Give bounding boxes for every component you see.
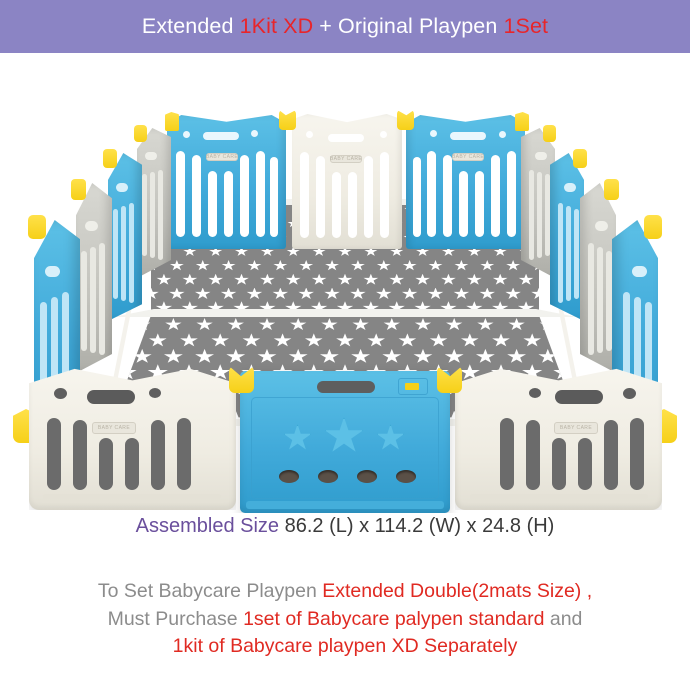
panel-hole: [85, 221, 98, 231]
mat-star: [226, 349, 246, 364]
gate-vent-hole: [318, 470, 338, 483]
panel-slat: [99, 438, 113, 490]
panel-hole: [535, 152, 547, 160]
mat-star: [505, 288, 521, 301]
panel-hole: [632, 266, 647, 277]
panel-slat: [630, 418, 644, 490]
note-1a: To Set Babycare Playpen: [98, 580, 322, 602]
playpen-photo: BABY CARE BABY CARE: [0, 53, 690, 513]
brand-logo-plate: BABY CARE: [206, 153, 238, 161]
panel-slat: [566, 206, 571, 301]
panel-slat: [151, 420, 165, 490]
mat-star: [428, 260, 442, 271]
mat-star: [402, 288, 418, 301]
mat-star: [427, 288, 443, 301]
panel-slat: [475, 171, 484, 237]
mat-star: [288, 349, 308, 364]
mat-star: [182, 274, 197, 286]
connector-yellow: [28, 215, 46, 239]
panel-slat: [129, 203, 134, 303]
side-panel-right-blue-1: [550, 153, 584, 321]
side-panel-left-blue-1: [108, 153, 142, 321]
side-panel-left-gray-1: [137, 128, 171, 278]
mat-star: [480, 260, 494, 271]
gate-inner-frame: [251, 397, 439, 499]
mat-star: [272, 288, 288, 301]
mat-star: [196, 260, 210, 271]
mat-star: [444, 349, 464, 364]
banner-part-plus-original-playpen: + Original Playpen: [313, 14, 503, 38]
mat-star: [523, 333, 541, 347]
back-panel-cream-center: BABY CARE: [292, 114, 402, 249]
connector-yellow: [573, 149, 587, 168]
panel-slat: [558, 203, 563, 303]
panel-slat: [578, 438, 592, 490]
brand-logo-text: BABY CARE: [330, 156, 362, 162]
panel-hole: [564, 183, 576, 192]
mat-star: [402, 260, 416, 271]
back-panel-blue-right: BABY CARE: [406, 115, 525, 249]
mat-star: [518, 274, 533, 286]
mat-star: [242, 333, 260, 347]
panel-hole: [145, 152, 157, 160]
panel-slat: [507, 151, 516, 237]
mat-star: [539, 318, 556, 331]
note-2c: and: [544, 608, 582, 630]
brand-logo-text: BABY CARE: [560, 425, 592, 431]
mat-star: [351, 260, 365, 271]
mat-star: [389, 274, 404, 286]
mat-star: [211, 333, 229, 347]
mat-star: [321, 318, 338, 331]
mat-star: [506, 260, 520, 271]
purchase-note: To Set Babycare Playpen Extended Double(…: [0, 578, 690, 661]
panel-slat: [224, 171, 233, 237]
panel-hole: [430, 130, 437, 137]
mat-star: [169, 288, 185, 301]
panel-slat: [142, 174, 147, 256]
mat-seam: [113, 309, 577, 317]
mat-star: [311, 274, 326, 286]
panel-handle-slot: [328, 134, 364, 142]
gate-vent-hole: [279, 470, 299, 483]
mat-star: [247, 260, 261, 271]
mat-star: [382, 349, 402, 364]
panel-slat: [491, 155, 500, 237]
panel-hole: [623, 388, 636, 399]
panel-slat: [529, 170, 534, 260]
mat-star: [320, 349, 340, 364]
product-promo-image: Extended 1Kit XD + Original Playpen 1Set: [0, 0, 690, 690]
mat-star: [441, 274, 456, 286]
mat-star: [477, 318, 494, 331]
panel-handle-slot: [555, 390, 603, 404]
gate-bottom-rail: [246, 501, 444, 509]
mat-star: [324, 288, 340, 301]
panel-slat: [500, 418, 514, 490]
panel-slat: [443, 155, 452, 237]
connector-yellow: [515, 112, 529, 131]
panel-hole: [529, 388, 541, 398]
mat-star: [290, 318, 307, 331]
panel-slat: [316, 156, 325, 238]
mat-star: [273, 260, 287, 271]
mat-star: [151, 288, 159, 301]
brand-logo-plate: BABY CARE: [452, 153, 484, 161]
brand-logo-plate: BABY CARE: [92, 422, 136, 434]
assembled-size-value: 86.2 (L) x 114.2 (W) x 24.8 (H): [285, 515, 555, 537]
note-3: 1kit of Babycare playpen XD Separately: [173, 635, 518, 657]
panel-slat: [208, 171, 217, 237]
panel-hole: [499, 131, 506, 138]
panel-slat: [348, 172, 357, 238]
panel-slat: [177, 418, 191, 490]
mat-star: [538, 349, 558, 364]
mat-star: [446, 318, 463, 331]
mat-star: [305, 333, 323, 347]
panel-bottom-rail: [43, 494, 221, 499]
mat-star: [286, 274, 301, 286]
mat-star: [363, 274, 378, 286]
mat-star: [367, 333, 385, 347]
panel-slat: [606, 251, 612, 351]
panel-slat: [176, 151, 185, 237]
back-panel-blue-left: BABY CARE: [167, 115, 286, 249]
mat-star: [413, 349, 433, 364]
brand-logo-text: BABY CARE: [98, 425, 130, 431]
panel-slat: [427, 151, 436, 237]
connector-yellow: [71, 179, 86, 200]
panel-slat: [113, 209, 118, 299]
panel-slat: [192, 155, 201, 237]
promo-banner-text: Extended 1Kit XD + Original Playpen 1Set: [142, 14, 548, 39]
mat-star: [165, 318, 182, 331]
mat-star: [493, 274, 508, 286]
mat-star: [337, 274, 352, 286]
panel-slat: [545, 174, 550, 256]
mat-star: [352, 318, 369, 331]
panel-hole: [306, 131, 313, 138]
front-panel-cream-right: BABY CARE: [455, 366, 662, 510]
mat-star: [180, 333, 198, 347]
panel-slat: [588, 243, 594, 355]
mat-star: [415, 274, 430, 286]
panel-hole: [54, 388, 67, 399]
panel-slat: [552, 438, 566, 490]
panel-slat: [240, 155, 249, 237]
brand-logo-plate: BABY CARE: [554, 422, 598, 434]
panel-slat: [270, 157, 278, 237]
mat-star: [195, 349, 215, 364]
mat-star: [195, 288, 211, 301]
mat-star: [350, 288, 366, 301]
connector-yellow: [644, 215, 662, 239]
side-panel-right-gray-1: [521, 128, 555, 278]
panel-handle-slot: [203, 132, 239, 140]
mat-star: [476, 349, 496, 364]
mat-star: [260, 274, 275, 286]
mat-star: [454, 260, 468, 271]
purchase-note-line-1: To Set Babycare Playpen Extended Double(…: [0, 578, 690, 606]
mat-star: [429, 333, 447, 347]
side-panel-left-gray-2: [76, 183, 112, 373]
mat-star: [164, 349, 184, 364]
panel-hole: [183, 131, 190, 138]
mat-star: [351, 349, 371, 364]
note-1c: ,: [581, 580, 592, 602]
mat-star: [383, 318, 400, 331]
assembled-size-label: Assembled Size: [136, 515, 279, 537]
panel-slat: [574, 209, 579, 299]
mat-star: [149, 333, 167, 347]
mat-star: [415, 318, 432, 331]
panel-slat: [256, 151, 265, 237]
mat-star: [234, 274, 249, 286]
mat-star: [221, 288, 237, 301]
assembled-size-line: Assembled Size 86.2 (L) x 114.2 (W) x 24…: [0, 515, 690, 538]
gate-vent-hole: [396, 470, 416, 483]
gate-handle-slot[interactable]: [317, 381, 375, 393]
mat-star: [257, 349, 277, 364]
panel-slat: [47, 418, 61, 490]
mat-star: [461, 333, 479, 347]
panel-slat: [364, 156, 373, 238]
note-2a: Must Purchase: [108, 608, 243, 630]
panel-slat: [604, 420, 618, 490]
promo-banner: Extended 1Kit XD + Original Playpen 1Set: [0, 0, 690, 53]
mat-star: [132, 349, 152, 364]
panel-slat: [81, 251, 87, 351]
mat-star: [377, 260, 391, 271]
panel-hole: [45, 266, 60, 277]
panel-slat: [150, 172, 155, 258]
mat-star: [273, 333, 291, 347]
brand-logo-text: BABY CARE: [206, 154, 238, 160]
panel-slat: [121, 206, 126, 301]
panel-hole: [149, 388, 161, 398]
banner-part-1kit-xd: 1Kit XD: [240, 14, 314, 38]
mat-star: [571, 318, 580, 331]
mat-star: [221, 260, 235, 271]
brand-logo-plate: BABY CARE: [330, 155, 362, 163]
mat-star: [336, 333, 354, 347]
connector-yellow: [165, 112, 179, 131]
note-1b: Extended Double(2mats Size): [322, 580, 581, 602]
panel-slat: [459, 171, 468, 237]
connector-yellow: [103, 149, 117, 168]
mat-star: [111, 318, 120, 331]
panel-handle-slot: [87, 390, 135, 404]
panel-handle-slot: [450, 132, 486, 140]
gate-door[interactable]: [240, 371, 450, 513]
mat-star: [531, 288, 539, 301]
panel-hole: [595, 221, 608, 231]
panel-slat: [99, 243, 105, 355]
purchase-note-line-3: 1kit of Babycare playpen XD Separately: [0, 633, 690, 661]
panel-slat: [300, 152, 309, 238]
gate-latch-housing: [398, 378, 428, 395]
panel-bottom-rail: [470, 494, 648, 499]
panel-slat: [413, 157, 421, 237]
mat-star: [453, 288, 469, 301]
mat-star: [134, 318, 151, 331]
panel-hole: [116, 183, 128, 192]
panel-hole: [251, 130, 258, 137]
mat-star: [259, 318, 276, 331]
banner-part-extended: Extended: [142, 14, 240, 38]
connector-yellow: [543, 125, 556, 142]
mat-star: [492, 333, 510, 347]
panel-slat: [90, 247, 96, 353]
panel-slat: [73, 420, 87, 490]
panel-slat: [158, 170, 163, 260]
note-2b: 1set of Babycare palypen standard: [243, 608, 544, 630]
purchase-note-line-2: Must Purchase 1set of Babycare palypen s…: [0, 606, 690, 634]
panel-slat: [332, 172, 341, 238]
front-panel-cream-left: BABY CARE: [29, 366, 236, 510]
panel-slat: [537, 172, 542, 258]
side-panel-right-gray-2: [580, 183, 616, 373]
mat-star: [398, 333, 416, 347]
mat-star: [170, 260, 184, 271]
mat-star: [507, 349, 527, 364]
panel-hole: [380, 131, 387, 138]
connector-yellow: [134, 125, 147, 142]
mat-star: [196, 318, 213, 331]
mat-star: [376, 288, 392, 301]
mat-star: [325, 260, 339, 271]
mat-star: [246, 288, 262, 301]
mat-star: [479, 288, 495, 301]
gate-vent-hole: [357, 470, 377, 483]
mat-star: [208, 274, 223, 286]
mat-star: [508, 318, 525, 331]
mat-star: [227, 318, 244, 331]
brand-logo-text: BABY CARE: [452, 154, 484, 160]
panel-slat: [125, 438, 139, 490]
panel-slat: [597, 247, 603, 353]
mat-star: [298, 288, 314, 301]
connector-yellow: [604, 179, 619, 200]
mat-star: [299, 260, 313, 271]
panel-slat: [526, 420, 540, 490]
banner-part-1set: 1Set: [503, 14, 548, 38]
mat-star: [156, 274, 171, 286]
panel-slat: [380, 152, 389, 238]
mat-star: [467, 274, 482, 286]
